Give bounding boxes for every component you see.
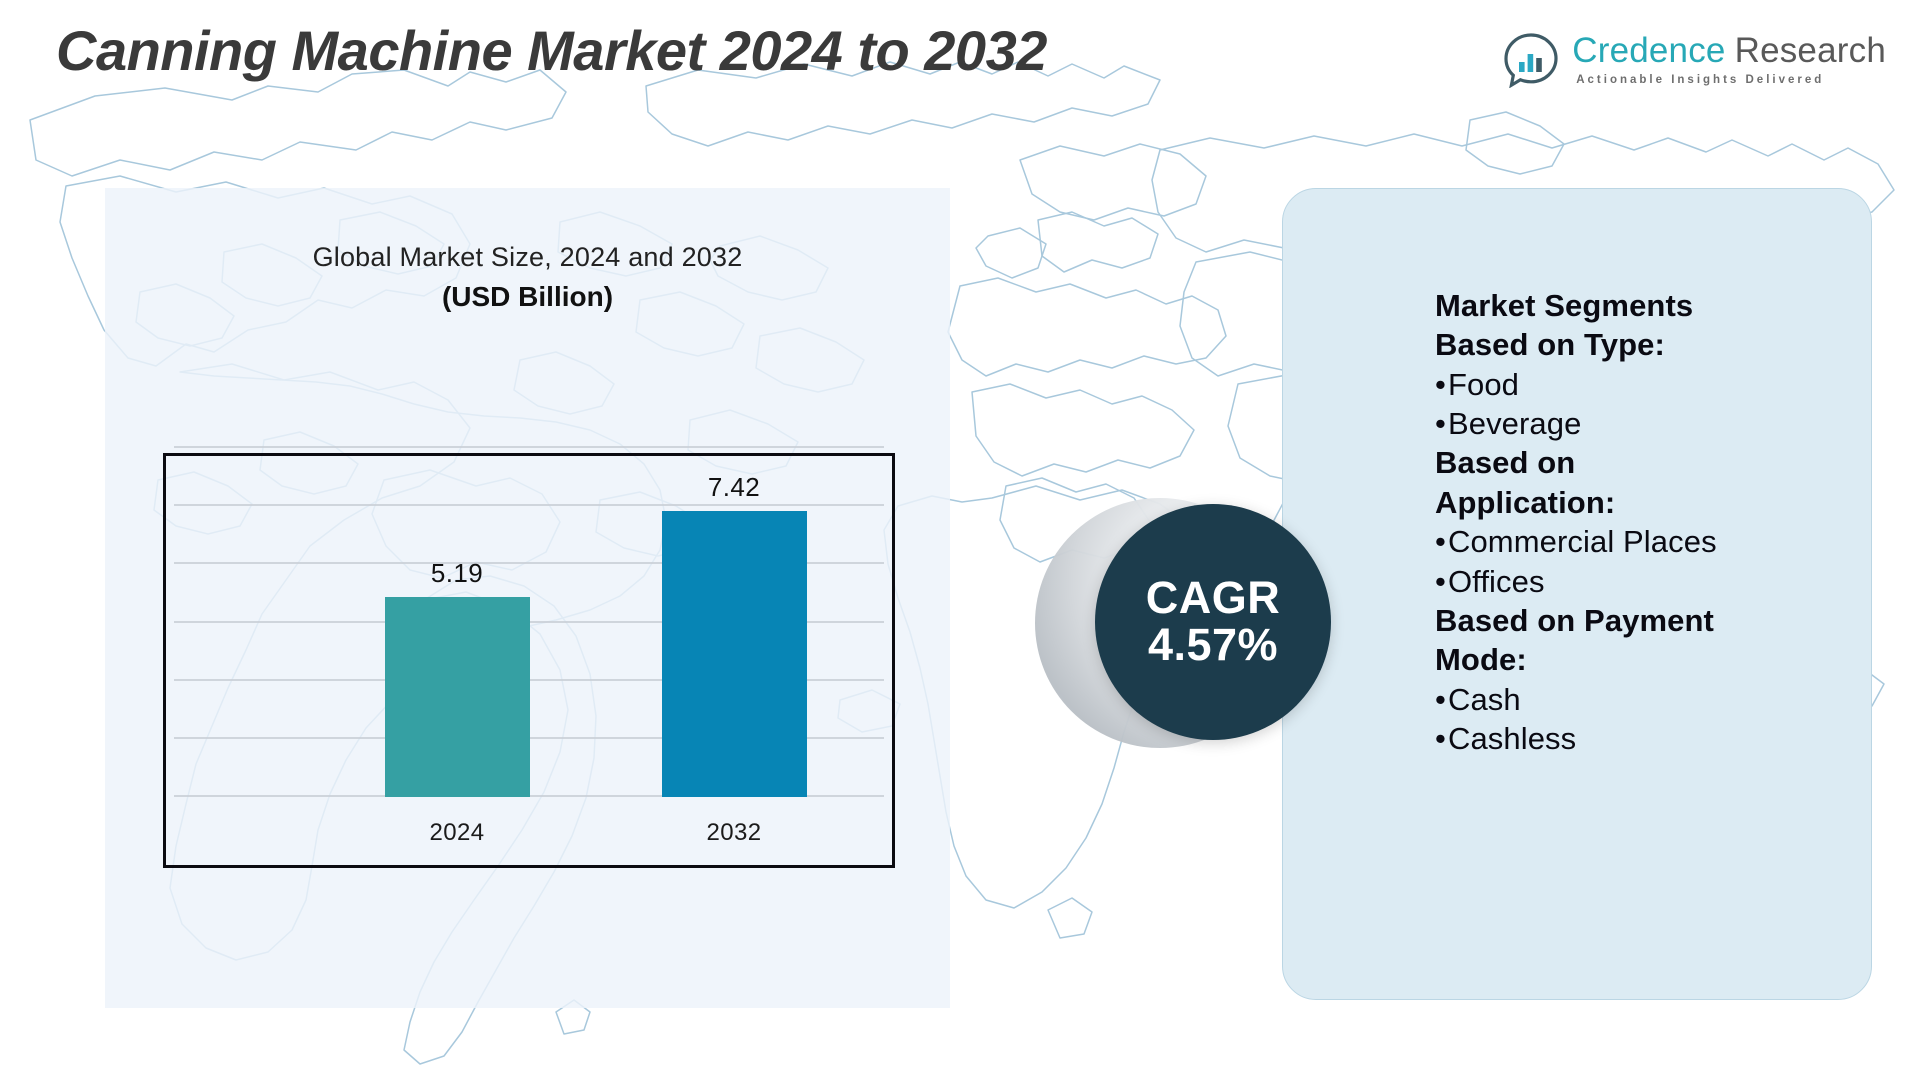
bar-chart: 5.1920247.422032 xyxy=(163,453,895,868)
bullet-icon: • xyxy=(1435,682,1446,717)
plot-area: 5.1920247.422032 xyxy=(166,456,892,865)
brand-logo: Credence Research Actionable Insights De… xyxy=(1503,32,1886,88)
bar-value-label-2024: 5.19 xyxy=(365,558,550,589)
bullet-icon: • xyxy=(1435,721,1446,756)
segments-title: Market Segments xyxy=(1435,286,1865,325)
segment-group-heading: Application: xyxy=(1435,483,1865,522)
segment-group-heading: Based on Payment xyxy=(1435,601,1865,640)
segment-item: •Offices xyxy=(1435,562,1865,601)
bullet-icon: • xyxy=(1435,564,1446,599)
segment-item: •Cash xyxy=(1435,680,1865,719)
bar-2024 xyxy=(385,597,530,797)
segment-item: •Commercial Places xyxy=(1435,522,1865,561)
bar-2032 xyxy=(662,511,807,797)
segment-item: •Food xyxy=(1435,365,1865,404)
category-label-2024: 2024 xyxy=(355,819,560,847)
logo-word-research: Research xyxy=(1735,33,1886,68)
segment-group-heading: Based on xyxy=(1435,443,1865,482)
logo-word-credence: Credence xyxy=(1572,33,1725,68)
credence-bar-chart-bubble-icon xyxy=(1503,32,1559,88)
bullet-icon: • xyxy=(1435,367,1446,402)
segments-list: Market SegmentsBased on Type:•Food•Bever… xyxy=(1435,286,1865,758)
page-title: Canning Machine Market 2024 to 2032 xyxy=(56,18,1047,83)
logo-tagline: Actionable Insights Delivered xyxy=(1576,75,1886,87)
gridline xyxy=(174,446,884,448)
segment-item: •Cashless xyxy=(1435,719,1865,758)
cagr-label: CAGR xyxy=(1146,575,1281,621)
cagr-value: 4.57% xyxy=(1148,621,1278,670)
category-label-2032: 2032 xyxy=(632,819,837,847)
gridline xyxy=(174,504,884,506)
segment-group-heading: Based on Type: xyxy=(1435,325,1865,364)
segment-group-heading: Mode: xyxy=(1435,640,1865,679)
bar-value-label-2032: 7.42 xyxy=(642,472,827,503)
bullet-icon: • xyxy=(1435,406,1446,441)
segment-item: •Beverage xyxy=(1435,404,1865,443)
bullet-icon: • xyxy=(1435,524,1446,559)
cagr-badge: CAGR 4.57% xyxy=(1095,504,1331,740)
